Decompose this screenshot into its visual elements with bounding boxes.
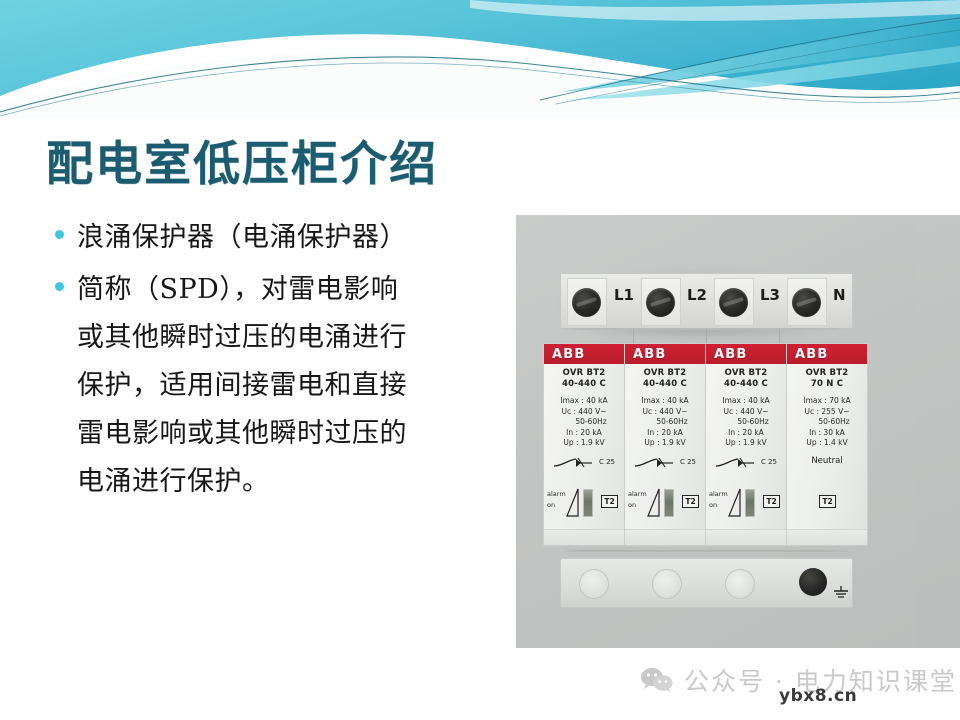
spec-up: Up : 1.9 kV xyxy=(644,438,685,447)
alarm-label-line2: on xyxy=(709,501,717,509)
spec-imax: Imax : 70 kA xyxy=(803,396,850,405)
alarm-indicator-row: alarm on T2 xyxy=(706,487,786,523)
alarm-indicator-row: alarm on T2 xyxy=(544,487,624,523)
status-window xyxy=(583,489,593,517)
bridge-tab xyxy=(706,329,707,344)
spec-in: In : 20 kA xyxy=(647,428,683,437)
spec-uc: Uc : 255 V~ xyxy=(804,407,849,416)
module-footer xyxy=(706,529,786,545)
spd-module[interactable]: ABB OVR BT2 40-440 C Imax : 40 kA Uc : 4… xyxy=(705,343,787,546)
model-line-1: OVR BT2 xyxy=(563,368,606,378)
header-wave-banner xyxy=(0,0,960,118)
status-window xyxy=(745,489,755,517)
spec-up: Up : 1.4 kV xyxy=(806,438,847,447)
spd-module-neutral[interactable]: ABB OVR BT2 70 N C Imax : 70 kA Uc : 255… xyxy=(786,343,868,546)
alarm-label-line2: on xyxy=(547,501,555,509)
alarm-label: alarm on xyxy=(628,489,647,511)
alarm-indicator-row: alarm on T2 xyxy=(625,487,705,523)
spec-up: Up : 1.9 kV xyxy=(563,438,604,447)
fuse-rating-label: C 25 xyxy=(599,458,615,466)
spec-in: In : 30 kA xyxy=(809,428,845,437)
terminal-label-l3: L3 xyxy=(760,286,780,304)
module-specs: Imax : 70 kA Uc : 255 V~ 50-60Hz In : 30… xyxy=(787,396,867,449)
alarm-label-line2: on xyxy=(628,501,636,509)
bullet-line: 或其他瞬时过压的电涌进行 xyxy=(77,322,407,353)
page-title: 配电室低压柜介绍 xyxy=(46,125,438,194)
alarm-label-line1: alarm xyxy=(628,490,647,498)
fuse-indication: C 25 xyxy=(706,454,786,472)
spd-module-row: ABB OVR BT2 40-440 C Imax : 40 kA Uc : 4… xyxy=(543,343,870,546)
bottom-bridge-bar xyxy=(560,550,853,552)
type-badge: T2 xyxy=(601,495,618,508)
abb-logo: ABB xyxy=(544,347,585,362)
spec-imax: Imax : 40 kA xyxy=(722,396,769,405)
bottom-terminal-hole xyxy=(725,569,755,599)
fuse-rating-label: C 25 xyxy=(680,458,696,466)
bullet-line: 简称（SPD），对雷电影响 xyxy=(77,274,398,305)
terminal-label-l2: L2 xyxy=(687,286,707,304)
terminal-screw xyxy=(646,288,675,317)
bullet-line: 电涌进行保护。 xyxy=(77,466,270,497)
terminal-label-n: N xyxy=(833,286,846,304)
bottom-terminal-hole xyxy=(652,569,682,599)
fuse-symbol-icon xyxy=(714,456,760,470)
module-footer xyxy=(625,529,705,545)
fuse-indication: C 25 xyxy=(544,454,624,472)
terminal-screw xyxy=(792,288,821,317)
model-line-2: 40-440 C xyxy=(724,379,768,389)
spec-uc: Uc : 440 V~ xyxy=(561,407,606,416)
type-badge: T2 xyxy=(763,495,780,508)
neutral-label: Neutral xyxy=(787,456,867,466)
list-item: 浪涌保护器（电涌保护器） xyxy=(55,214,525,262)
top-terminal-block: L1 L2 L3 N xyxy=(560,273,853,329)
bottom-terminal-block xyxy=(560,558,853,608)
wechat-icon xyxy=(640,666,674,694)
fuse-symbol-icon xyxy=(552,456,598,470)
alarm-triangle-icon xyxy=(647,488,661,518)
type-badge: T2 xyxy=(682,495,699,508)
abb-surge-protector-photo: L1 L2 L3 N ABB OVR BT2 40-440 C Imax : 4… xyxy=(516,215,960,648)
site-watermark: ybx8.cn xyxy=(779,686,857,706)
abb-logo: ABB xyxy=(625,347,666,362)
bullet-line: 保护，适用间接雷电和直接 xyxy=(77,370,407,401)
abb-logo: ABB xyxy=(787,347,828,362)
module-footer xyxy=(787,529,867,545)
spec-freq: 50-60Hz xyxy=(561,417,606,426)
model-line-1: OVR BT2 xyxy=(806,368,849,378)
alarm-triangle-icon xyxy=(566,488,580,518)
terminal-label-l1: L1 xyxy=(614,286,634,304)
spec-uc: Uc : 440 V~ xyxy=(642,407,687,416)
module-model: OVR BT2 40-440 C xyxy=(544,368,624,390)
module-model: OVR BT2 70 N C xyxy=(787,368,867,390)
bullet-dot-icon xyxy=(55,230,64,239)
fuse-symbol-icon xyxy=(633,456,679,470)
spec-in: In : 20 kA xyxy=(728,428,764,437)
bullet-line: 雷电影响或其他瞬时过压的 xyxy=(77,418,407,449)
terminal-screw xyxy=(572,288,601,317)
list-item: 简称（SPD），对雷电影响 或其他瞬时过压的电涌进行 保护，适用间接雷电和直接 … xyxy=(55,266,525,506)
type-badge: T2 xyxy=(819,495,836,508)
model-line-1: OVR BT2 xyxy=(644,368,687,378)
bridge-tab xyxy=(779,329,780,344)
module-footer xyxy=(544,529,624,545)
ground-terminal-screw xyxy=(799,568,827,596)
header-wave-graphic xyxy=(0,0,960,118)
bullet-dot-icon xyxy=(55,282,64,291)
model-line-2: 70 N C xyxy=(811,379,843,389)
status-window xyxy=(664,489,674,517)
alarm-triangle-icon xyxy=(728,488,742,518)
alarm-label: alarm on xyxy=(547,489,566,511)
abb-brand-band: ABB xyxy=(706,344,786,364)
bottom-terminal-hole xyxy=(579,569,609,599)
module-specs: Imax : 40 kA Uc : 440 V~ 50-60Hz In : 20… xyxy=(544,396,624,449)
spec-imax: Imax : 40 kA xyxy=(560,396,607,405)
model-line-2: 40-440 C xyxy=(562,379,606,389)
abb-brand-band: ABB xyxy=(544,344,624,364)
spec-freq: 50-60Hz xyxy=(723,417,768,426)
fuse-indication: C 25 xyxy=(625,454,705,472)
spec-up: Up : 1.9 kV xyxy=(725,438,766,447)
terminal-screw xyxy=(719,288,748,317)
bullet-text-block: 简称（SPD），对雷电影响 或其他瞬时过压的电涌进行 保护，适用间接雷电和直接 … xyxy=(77,266,407,506)
abb-brand-band: ABB xyxy=(787,344,867,364)
earth-ground-icon xyxy=(833,586,849,600)
bullet-text: 浪涌保护器（电涌保护器） xyxy=(77,214,407,262)
spec-imax: Imax : 40 kA xyxy=(641,396,688,405)
alarm-label: alarm on xyxy=(709,489,728,511)
bullet-list: 浪涌保护器（电涌保护器） 简称（SPD），对雷电影响 或其他瞬时过压的电涌进行 … xyxy=(55,214,525,510)
module-specs: Imax : 40 kA Uc : 440 V~ 50-60Hz In : 20… xyxy=(625,396,705,449)
spec-freq: 50-60Hz xyxy=(804,417,849,426)
alarm-indicator-row: T2 xyxy=(787,487,867,523)
spec-uc: Uc : 440 V~ xyxy=(723,407,768,416)
bridge-tab xyxy=(633,329,634,344)
alarm-label-line1: alarm xyxy=(547,490,566,498)
model-line-1: OVR BT2 xyxy=(725,368,768,378)
spec-in: In : 20 kA xyxy=(566,428,602,437)
module-specs: Imax : 40 kA Uc : 440 V~ 50-60Hz In : 20… xyxy=(706,396,786,449)
abb-logo: ABB xyxy=(706,347,747,362)
module-model: OVR BT2 40-440 C xyxy=(625,368,705,390)
spd-module[interactable]: ABB OVR BT2 40-440 C Imax : 40 kA Uc : 4… xyxy=(543,343,625,546)
spd-module[interactable]: ABB OVR BT2 40-440 C Imax : 40 kA Uc : 4… xyxy=(624,343,706,546)
fuse-rating-label: C 25 xyxy=(761,458,777,466)
abb-brand-band: ABB xyxy=(625,344,705,364)
alarm-label-line1: alarm xyxy=(709,490,728,498)
model-line-2: 40-440 C xyxy=(643,379,687,389)
spec-freq: 50-60Hz xyxy=(642,417,687,426)
module-model: OVR BT2 40-440 C xyxy=(706,368,786,390)
